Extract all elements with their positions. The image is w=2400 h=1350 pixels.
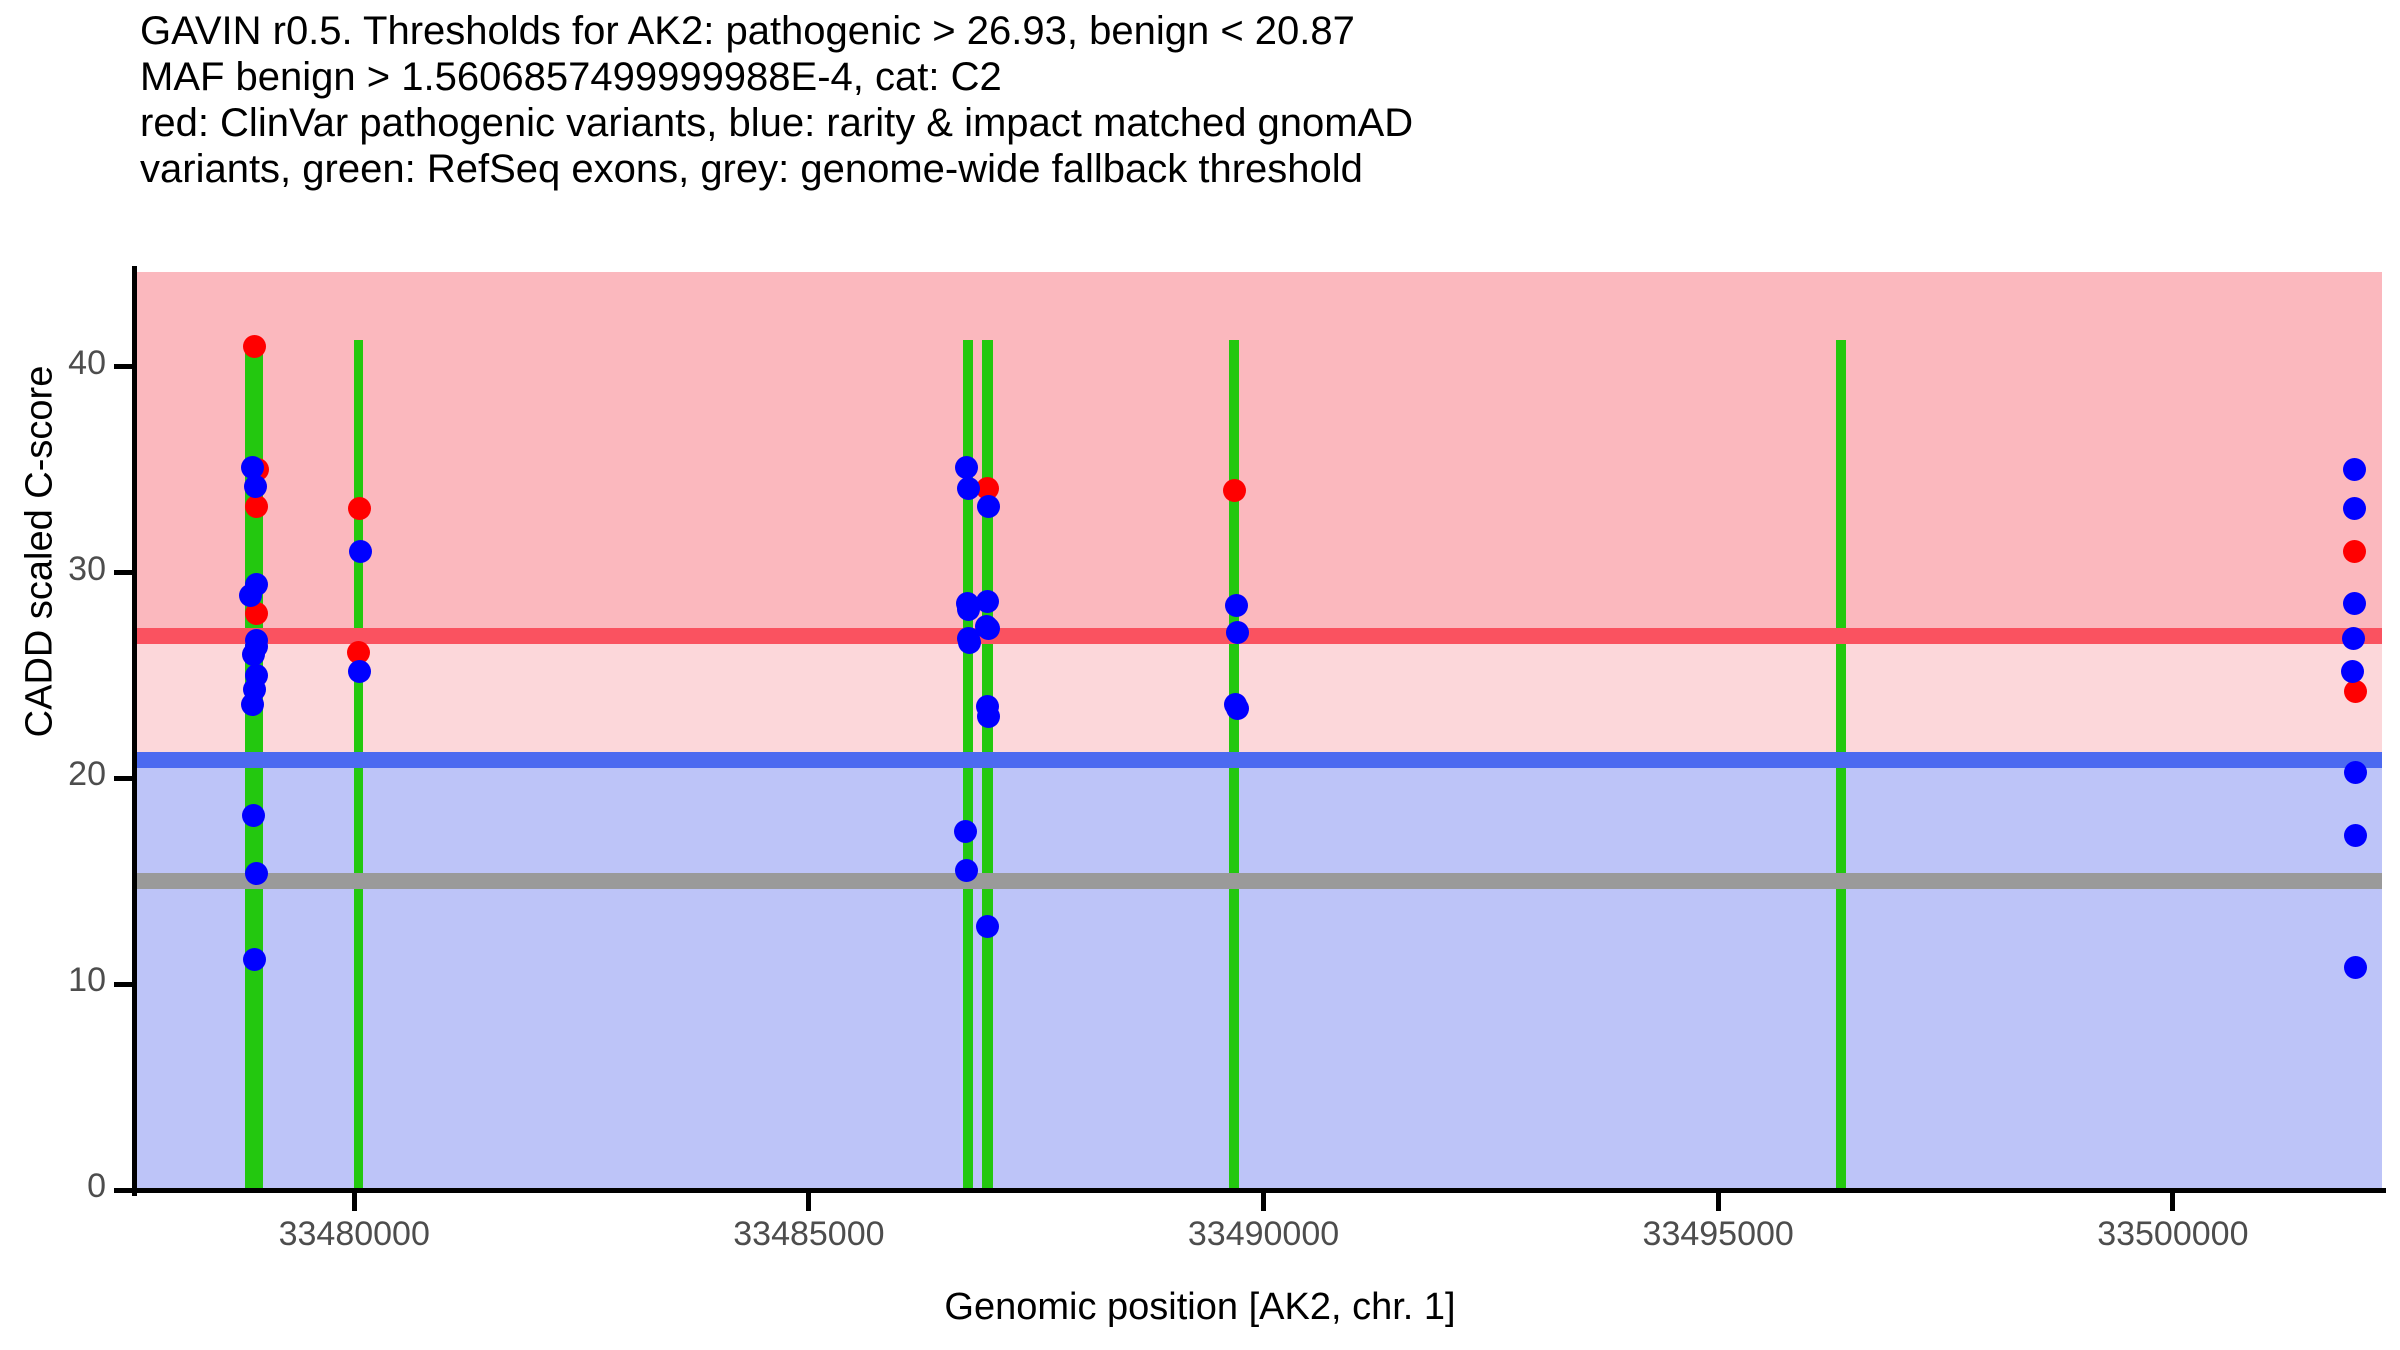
title-line-3: red: ClinVar pathogenic variants, blue: … xyxy=(140,100,2340,146)
y-axis-tick xyxy=(114,570,132,575)
title-line-2: MAF benign > 1.5606857499999988E-4, cat:… xyxy=(140,54,2340,100)
variant-point xyxy=(1226,697,1249,720)
variant-point xyxy=(2344,761,2367,784)
y-axis-tick xyxy=(114,1188,132,1193)
chart-title: GAVIN r0.5. Thresholds for AK2: pathogen… xyxy=(140,8,2340,192)
variant-point xyxy=(244,475,267,498)
y-axis-tick xyxy=(114,982,132,987)
variant-point xyxy=(243,678,266,701)
variant-point xyxy=(2343,592,2366,615)
variant-point xyxy=(955,859,978,882)
y-axis-line xyxy=(132,266,137,1196)
x-axis-tick-label: 33495000 xyxy=(1643,1215,1794,1254)
x-axis-label: Genomic position [AK2, chr. 1] xyxy=(0,1286,2400,1329)
y-axis-tick-label: 30 xyxy=(40,550,106,589)
x-axis-tick xyxy=(2170,1193,2175,1211)
variant-point xyxy=(1225,594,1248,617)
plot-panel xyxy=(136,272,2382,1190)
variant-point xyxy=(954,820,977,843)
variant-point xyxy=(977,617,1000,640)
threshold-line-fallback-line xyxy=(136,873,2382,889)
variant-point xyxy=(976,915,999,938)
y-axis-tick xyxy=(114,776,132,781)
threshold-line-benign-line xyxy=(136,752,2382,768)
x-axis-line xyxy=(132,1188,2386,1193)
x-axis-tick-label: 33480000 xyxy=(279,1215,430,1254)
band-pathogenic-zone xyxy=(136,272,2382,636)
variant-point xyxy=(957,477,980,500)
x-axis-tick-label: 33500000 xyxy=(2097,1215,2248,1254)
y-axis-tick xyxy=(114,364,132,369)
variant-point xyxy=(976,590,999,613)
variant-point xyxy=(242,804,265,827)
variant-point xyxy=(1223,479,1246,502)
variant-point xyxy=(1226,621,1249,644)
variant-point xyxy=(243,948,266,971)
variant-point xyxy=(955,456,978,479)
variant-point xyxy=(245,862,268,885)
y-axis-tick-label: 20 xyxy=(40,755,106,794)
x-axis-tick-label: 33490000 xyxy=(1188,1215,1339,1254)
variant-point xyxy=(243,335,266,358)
x-axis-tick xyxy=(1261,1193,1266,1211)
x-axis-tick xyxy=(1716,1193,1721,1211)
title-line-4: variants, green: RefSeq exons, grey: gen… xyxy=(140,146,2340,192)
chart-page: GAVIN r0.5. Thresholds for AK2: pathogen… xyxy=(0,0,2400,1350)
threshold-line-pathogenic-line xyxy=(136,628,2382,644)
title-line-1: GAVIN r0.5. Thresholds for AK2: pathogen… xyxy=(140,8,2340,54)
variant-point xyxy=(977,705,1000,728)
x-axis-tick xyxy=(806,1193,811,1211)
band-vous-zone xyxy=(136,636,2382,761)
band-benign-zone xyxy=(136,760,2382,1190)
variant-point xyxy=(348,660,371,683)
x-axis-tick-label: 33485000 xyxy=(733,1215,884,1254)
y-axis-tick-label: 10 xyxy=(40,961,106,1000)
y-axis-tick-label: 0 xyxy=(40,1167,106,1206)
y-axis-tick-label: 40 xyxy=(40,344,106,383)
x-axis-tick xyxy=(352,1193,357,1211)
